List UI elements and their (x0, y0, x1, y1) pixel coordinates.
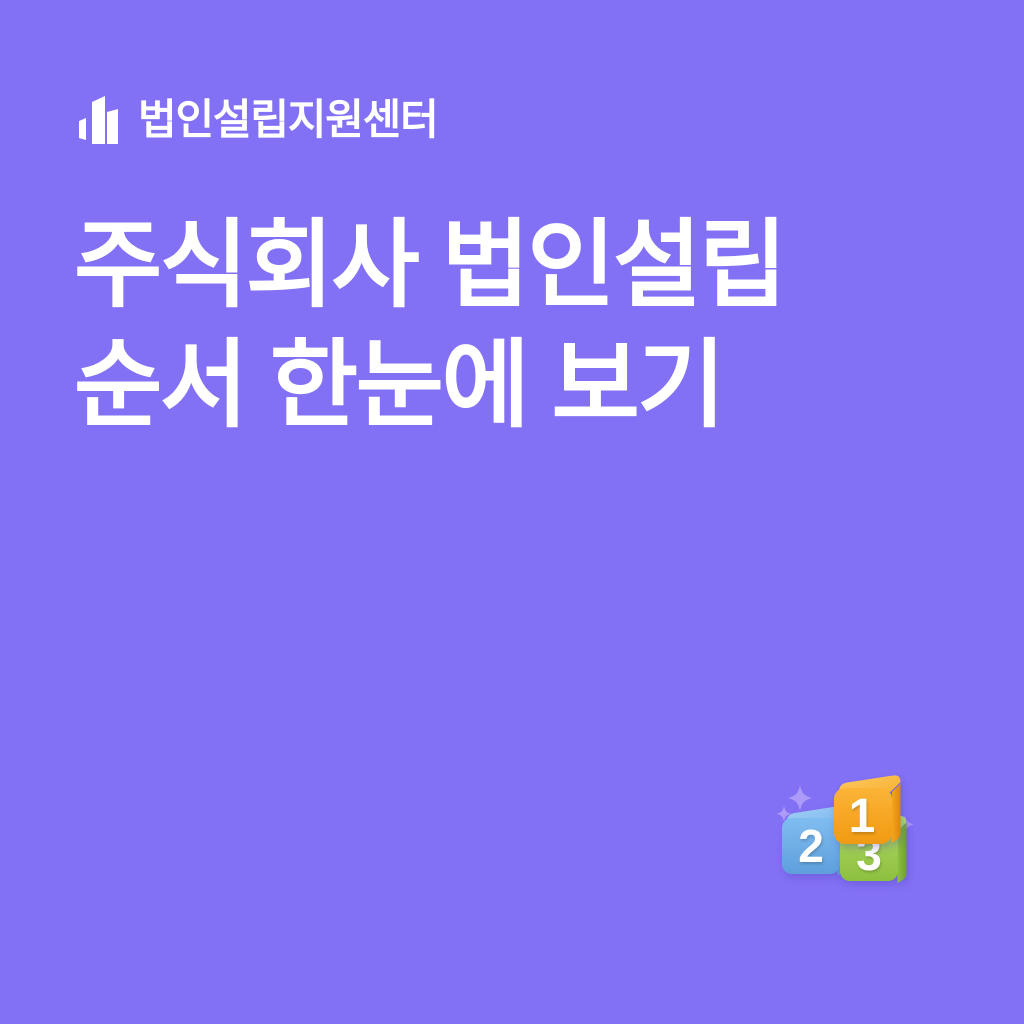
poster-canvas: 법인설립지원센터 주식회사 법인설립 순서 한눈에 보기 (0, 0, 1024, 1024)
block-1-number: 1 (849, 790, 876, 843)
block-1: 1 (834, 775, 901, 844)
building-bars-icon (78, 94, 122, 146)
numbered-blocks-svg: 2 3 1 (752, 752, 952, 922)
page-title: 주식회사 법인설립 순서 한눈에 보기 (74, 206, 904, 446)
block-2-number: 2 (798, 820, 824, 872)
numbered-blocks-illustration: 2 3 1 (752, 752, 952, 922)
brand-logo: 법인설립지원센터 (78, 93, 438, 147)
brand-name: 법인설립지원센터 (138, 99, 438, 141)
page-title-line-1: 주식회사 법인설립 (74, 206, 904, 326)
page-title-line-2: 순서 한눈에 보기 (74, 326, 904, 446)
